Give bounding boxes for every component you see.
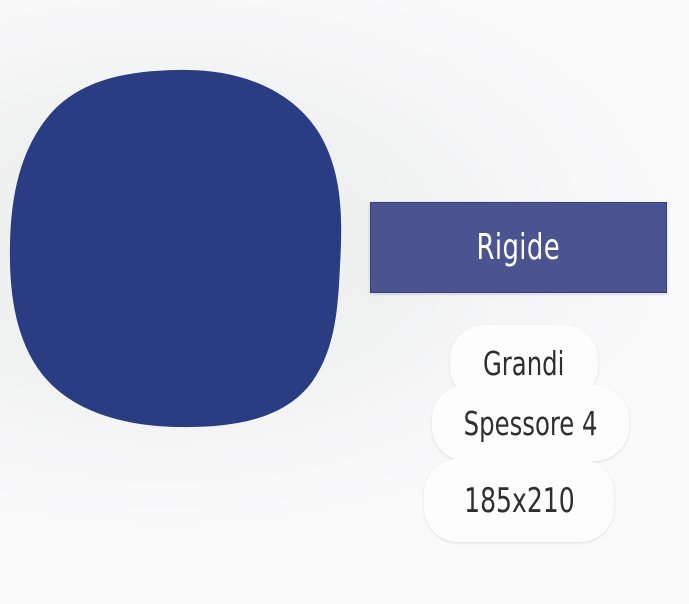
attribute-label-size-class: Grandi xyxy=(483,347,564,380)
diagram-canvas: Rigide Grandi Spessore 4 185x210 xyxy=(0,0,689,604)
attribute-blob-stack: Grandi Spessore 4 185x210 xyxy=(415,312,625,552)
banner-label: Rigide xyxy=(477,230,561,266)
attribute-label-thickness: Spessore 4 xyxy=(464,407,598,440)
attribute-blob-dimensions[interactable]: 185x210 xyxy=(424,459,614,542)
attribute-label-dimensions: 185x210 xyxy=(464,484,575,518)
attribute-blob-thickness[interactable]: Spessore 4 xyxy=(432,385,629,461)
banner-rigide[interactable]: Rigide xyxy=(370,202,667,293)
